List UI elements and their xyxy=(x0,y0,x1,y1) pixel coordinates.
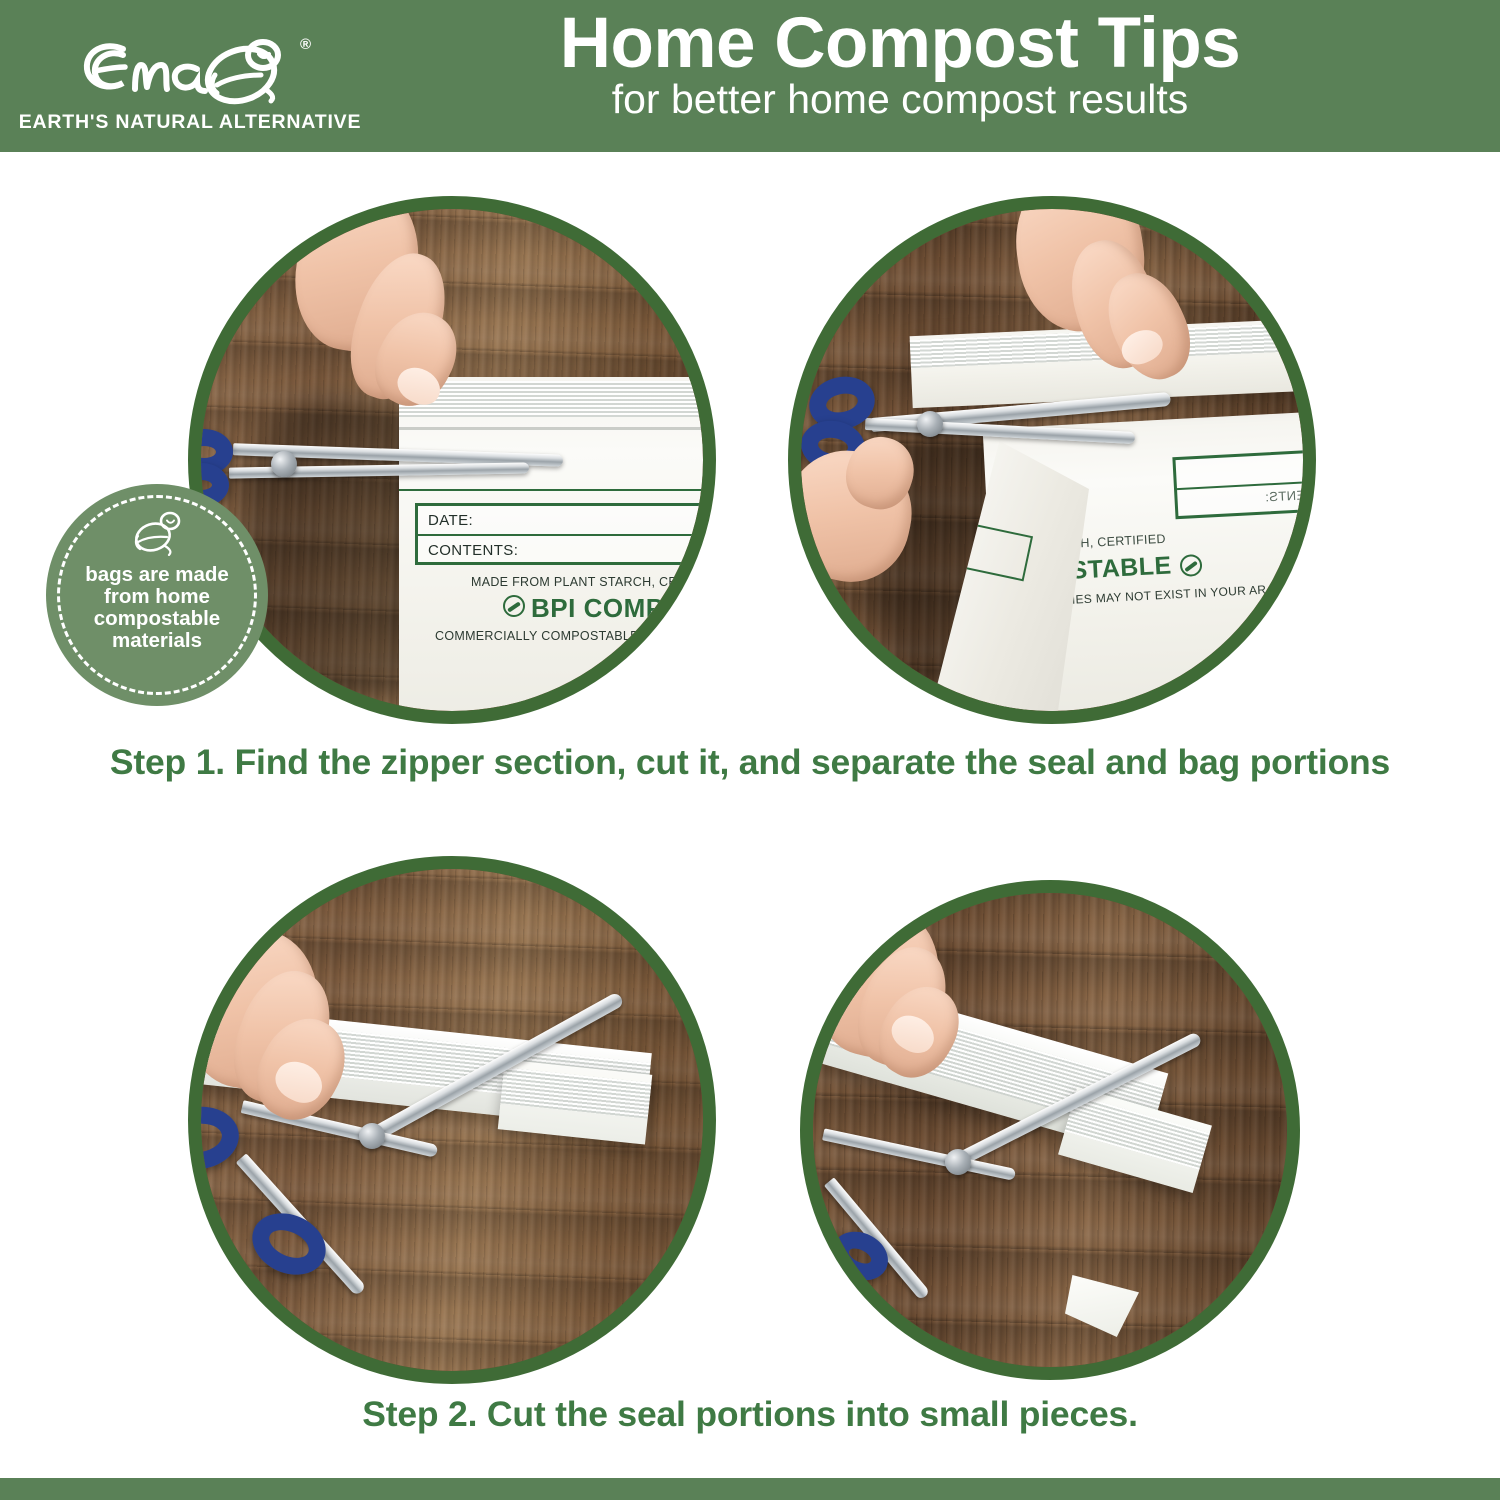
infographic-page: ® EARTH'S NATURAL ALTERNATIVE Home Compo… xyxy=(0,0,1500,1500)
bag-contents-label: CONTENTS: xyxy=(1264,485,1303,504)
hand-holding-bag xyxy=(261,209,511,459)
badge-dashed-ring xyxy=(57,495,257,695)
scissor-pivot xyxy=(917,411,943,437)
scissor-blade-lower xyxy=(822,1128,1016,1180)
photo-step2-left xyxy=(188,856,716,1384)
bag-contents-label: CONTENTS: xyxy=(428,542,518,559)
photo-2-content: DATE: CONTENTS: NT STARCH, CERTIFIED MPO… xyxy=(801,209,1303,711)
photo-4-content xyxy=(813,893,1287,1367)
bag-disposal-line: COMMERCIALLY COMPOSTABLE ONLY. FACILITIE… xyxy=(435,629,703,643)
brand-tagline: EARTH'S NATURAL ALTERNATIVE xyxy=(19,111,362,134)
page-title: Home Compost Tips xyxy=(340,8,1460,80)
scissor-handle-lower xyxy=(824,1223,896,1290)
brand-logo: ® EARTH'S NATURAL ALTERNATIVE xyxy=(45,22,335,134)
bpi-leaf-icon xyxy=(503,595,525,617)
logo-mark: ® xyxy=(65,35,315,109)
header-title-block: Home Compost Tips for better home compos… xyxy=(340,8,1460,121)
hand-holding-strip xyxy=(829,901,1039,1121)
photo-step1-left: DATE: CONTENTS: MADE FROM PLANT STARCH, … xyxy=(188,196,716,724)
bag-date-label: DATE: xyxy=(1302,457,1303,474)
scissor-handle-lower xyxy=(242,1202,335,1286)
photo-step2-right xyxy=(800,880,1300,1380)
bpi-certification-text: BPI COMPOST xyxy=(531,593,703,624)
registered-trademark-icon: ® xyxy=(300,37,311,52)
photo-1-content: DATE: CONTENTS: MADE FROM PLANT STARCH, … xyxy=(201,209,703,711)
hand-holding-scissors xyxy=(801,441,975,621)
hand-holding-strip xyxy=(201,921,421,1171)
label-divider xyxy=(418,534,703,536)
bag-material-line: MADE FROM PLANT STARCH, CER xyxy=(471,575,686,589)
step-1-caption: Step 1. Find the zipper section, cut it,… xyxy=(0,742,1500,783)
bag-date-label: DATE: xyxy=(428,512,473,529)
photo-step1-right: DATE: CONTENTS: NT STARCH, CERTIFIED MPO… xyxy=(788,196,1316,724)
home-compostable-badge: bags are made from home compostable mate… xyxy=(46,484,268,706)
step-2-caption: Step 2. Cut the seal portions into small… xyxy=(0,1394,1500,1435)
photo-3-content xyxy=(201,869,703,1371)
footer-bar xyxy=(0,1478,1500,1500)
bag-label-box: DATE: CONTENTS: xyxy=(415,503,703,565)
hand-holding-bag xyxy=(987,209,1237,429)
ena-turtle-icon xyxy=(65,35,315,109)
header-bar: ® EARTH'S NATURAL ALTERNATIVE Home Compo… xyxy=(0,0,1500,152)
bpi-leaf-icon xyxy=(1179,554,1202,577)
scissor-pivot xyxy=(945,1149,971,1175)
page-subtitle: for better home compost results xyxy=(340,78,1460,121)
